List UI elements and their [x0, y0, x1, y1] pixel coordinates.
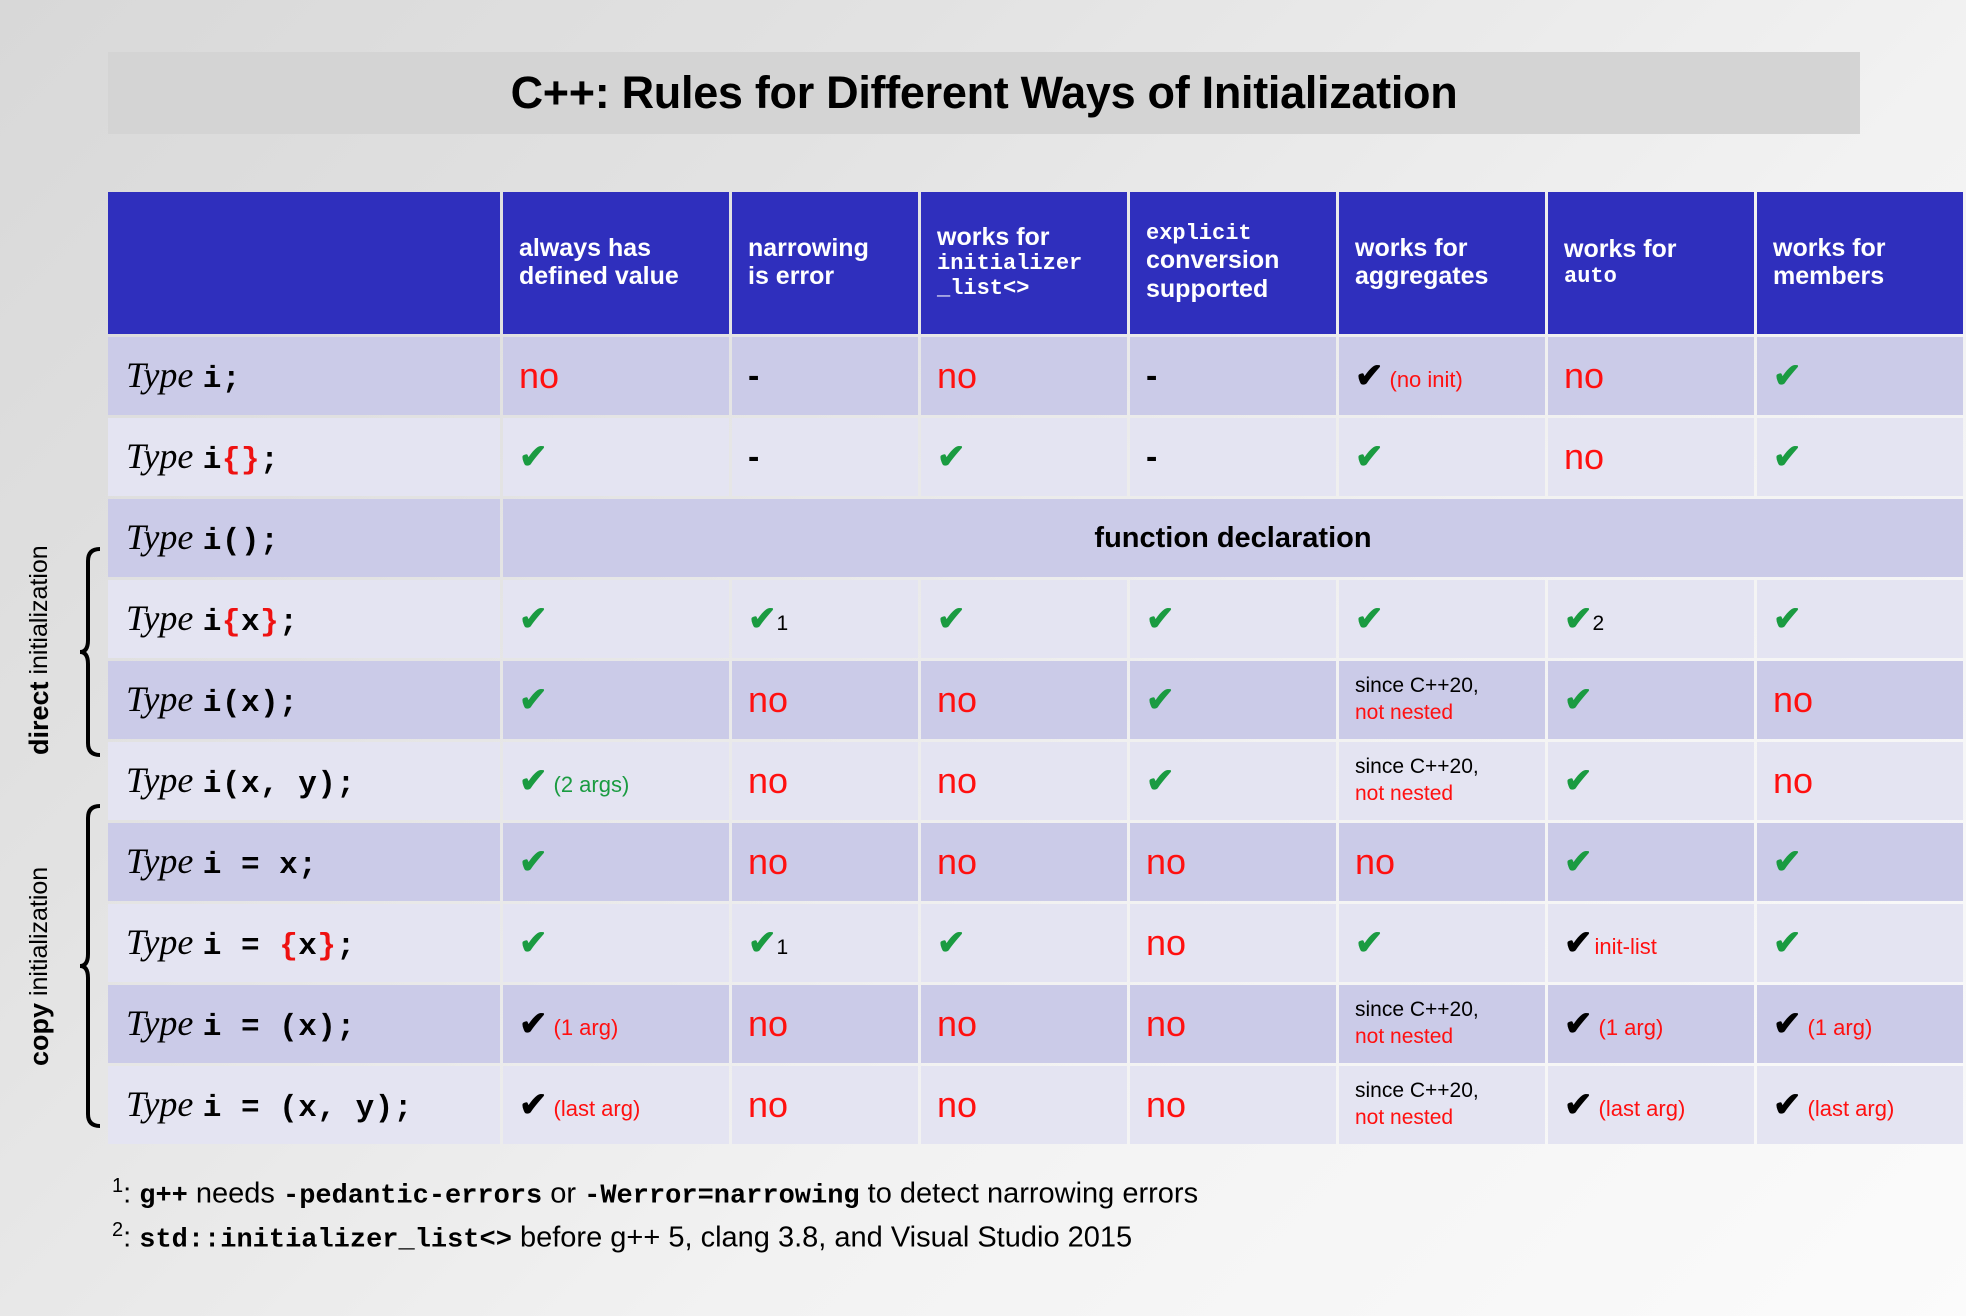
no-label: no [1773, 763, 1813, 799]
no-label: no [1146, 925, 1186, 961]
side-label-direct-rest: initialization [25, 545, 53, 681]
side-label-direct: direct initialization [24, 549, 55, 755]
value-since-cxx20: since C++20,not nested [1355, 1078, 1479, 1132]
row-label-3: Type i{x}; [108, 580, 500, 658]
table-header-row: always hasdefined valuenarrowingis error… [108, 192, 1963, 334]
sig-part: { [279, 929, 298, 964]
cell-note: init-list [1595, 936, 1657, 958]
footnote-code: -Werror=narrowing [584, 1182, 859, 1212]
column-header-line: supported [1146, 275, 1336, 304]
check-icon: ✔ [1146, 602, 1175, 636]
cell-r8-c6: ✔(1 arg) [1757, 985, 1963, 1063]
cell-note: (1 arg) [1599, 1017, 1664, 1039]
not-nested-line: not nested [1355, 781, 1479, 808]
footnote-code: g++ [139, 1182, 188, 1212]
row-label-7: Type i = {x}; [108, 904, 500, 982]
cell-r1-c2: ✔ [921, 418, 1127, 496]
title-bar: C++: Rules for Different Ways of Initial… [108, 52, 1860, 134]
value-no: no [937, 682, 977, 718]
no-label: no [748, 844, 788, 880]
check-icon: ✔ [519, 764, 548, 798]
row-label-4: Type i(x); [108, 661, 500, 739]
sig-part: i [203, 605, 222, 640]
copy-brace-icon [80, 806, 100, 1126]
sig-part: Type [126, 517, 193, 557]
cell-r4-c3: ✔ [1130, 661, 1336, 739]
column-header-line: aggregates [1355, 262, 1545, 291]
sig-part: } [317, 929, 336, 964]
value-no: no [748, 682, 788, 718]
value-since-cxx20: since C++20,not nested [1355, 754, 1479, 808]
column-header-6: works forauto [1548, 192, 1754, 334]
cell-r0-c3: - [1130, 337, 1336, 415]
cell-r8-c2: no [921, 985, 1127, 1063]
row-label-8: Type i = (x); [108, 985, 500, 1063]
cell-r5-c4: since C++20,not nested [1339, 742, 1545, 820]
table-corner-cell [108, 192, 500, 334]
value-no: no [1773, 763, 1813, 799]
check-icon: ✔ [937, 926, 966, 960]
value-check-black: ✔(1 arg) [1564, 1007, 1663, 1041]
column-header-line: conversion [1146, 246, 1336, 275]
check-icon: ✔ [1773, 926, 1802, 960]
sig-part: Type [126, 679, 193, 719]
value-check-green: ✔ [1564, 764, 1593, 798]
footnote-1: 1: g++ needs -pedantic-errors or -Werror… [112, 1172, 1872, 1216]
table-row: Type i = (x, y);✔(last arg)nononosince C… [108, 1066, 1963, 1144]
value-check-green: ✔ [937, 926, 966, 960]
cell-note: (no init) [1390, 369, 1463, 391]
footnote-code: -pedantic-errors [283, 1182, 542, 1212]
cell-r9-c4: since C++20,not nested [1339, 1066, 1545, 1144]
cell-r6-c6: ✔ [1757, 823, 1963, 901]
value-no: no [1355, 844, 1395, 880]
sig-part: x [298, 929, 317, 964]
sig-part: i(); [203, 524, 279, 559]
cell-note: (2 args) [554, 774, 630, 796]
footnote-text: needs [188, 1178, 283, 1210]
row-label-0: Type i; [108, 337, 500, 415]
check-icon: ✔ [1355, 926, 1384, 960]
no-label: no [748, 1006, 788, 1042]
check-icon: ✔ [519, 602, 548, 636]
check-icon: ✔ [1773, 1088, 1802, 1122]
cell-r7-c6: ✔ [1757, 904, 1963, 982]
value-no: no [937, 1087, 977, 1123]
sig-part: Type [126, 760, 193, 800]
value-check-green: ✔ [519, 845, 548, 879]
dash-label: - [1146, 440, 1157, 474]
since-line: since C++20, [1355, 1078, 1479, 1105]
side-label-copy-bold: copy [24, 1003, 54, 1066]
value-since-cxx20: since C++20,not nested [1355, 673, 1479, 727]
value-check-green: ✔1 [748, 602, 788, 636]
side-label-direct-bold: direct [24, 681, 54, 755]
cell-r0-c0: no [503, 337, 729, 415]
value-check-green: ✔ [1564, 845, 1593, 879]
row-signature: Type i = x; [126, 843, 317, 881]
sig-part: } [260, 605, 279, 640]
row-signature: Type i(); [126, 519, 279, 557]
value-check-green: ✔ [1564, 683, 1593, 717]
sig-part: Type [126, 841, 193, 881]
sig-part: i(x, y); [203, 767, 356, 802]
not-nested-line: not nested [1355, 1105, 1479, 1132]
check-icon: ✔ [519, 683, 548, 717]
value-no: no [1146, 1087, 1186, 1123]
check-icon: ✔ [937, 440, 966, 474]
cell-r1-c1: - [732, 418, 918, 496]
row-signature: Type i = (x, y); [126, 1086, 413, 1124]
no-label: no [1146, 1006, 1186, 1042]
column-header-line: always has [519, 234, 729, 263]
sig-part: Type [126, 1003, 193, 1043]
cell-r0-c2: no [921, 337, 1127, 415]
table-row: Type i(x, y);✔(2 args)nono✔since C++20,n… [108, 742, 1963, 820]
cell-r6-c3: no [1130, 823, 1336, 901]
column-header-2: narrowingis error [732, 192, 918, 334]
check-icon: ✔ [1564, 1088, 1593, 1122]
value-check-black: ✔(last arg) [519, 1088, 640, 1122]
check-icon: ✔ [519, 845, 548, 879]
cell-r3-c4: ✔ [1339, 580, 1545, 658]
cell-r1-c6: ✔ [1757, 418, 1963, 496]
cell-r9-c6: ✔(last arg) [1757, 1066, 1963, 1144]
check-icon: ✔ [1564, 602, 1593, 636]
row-signature: Type i = (x); [126, 1005, 356, 1043]
footnote-ref: 2 [1593, 613, 1605, 634]
no-label: no [937, 763, 977, 799]
no-label: no [1564, 439, 1604, 475]
twoline-note: since C++20,not nested [1355, 754, 1479, 808]
value-check-green: ✔ [519, 926, 548, 960]
no-label: no [519, 358, 559, 394]
side-label-copy-rest: initialization [25, 866, 53, 1002]
footnote-marker: 1 [112, 1175, 123, 1197]
check-icon: ✔ [1564, 1007, 1593, 1041]
cell-r8-c5: ✔(1 arg) [1548, 985, 1754, 1063]
cell-r9-c0: ✔(last arg) [503, 1066, 729, 1144]
column-header-line: defined value [519, 262, 729, 291]
no-label: no [1355, 844, 1395, 880]
side-annotations: direct initialization copy initializatio… [0, 0, 108, 1316]
table-row: Type i{};✔-✔-✔no✔ [108, 418, 1963, 496]
page-title: C++: Rules for Different Ways of Initial… [511, 67, 1458, 119]
row-signature: Type i(x, y); [126, 762, 356, 800]
cell-r6-c1: no [732, 823, 918, 901]
cell-r5-c1: no [732, 742, 918, 820]
row-label-6: Type i = x; [108, 823, 500, 901]
since-line: since C++20, [1355, 754, 1479, 781]
no-label: no [937, 358, 977, 394]
no-label: no [937, 682, 977, 718]
check-icon: ✔ [519, 1007, 548, 1041]
value-no: no [1564, 439, 1604, 475]
footnote-text: : [123, 1222, 139, 1254]
sig-part: i = (x, y); [203, 1091, 413, 1126]
direct-brace-icon [80, 549, 100, 755]
row-signature: Type i(x); [126, 681, 298, 719]
value-dash: - [1146, 440, 1157, 474]
check-icon: ✔ [748, 602, 777, 636]
value-no: no [937, 358, 977, 394]
value-no: no [1146, 1006, 1186, 1042]
sig-part: Type [126, 922, 193, 962]
check-icon: ✔ [748, 926, 777, 960]
row-signature: Type i; [126, 357, 241, 395]
value-no: no [748, 763, 788, 799]
cell-r6-c5: ✔ [1548, 823, 1754, 901]
value-check-green: ✔ [937, 440, 966, 474]
cell-r4-c0: ✔ [503, 661, 729, 739]
value-no: no [748, 844, 788, 880]
footnote-text: to detect narrowing errors [860, 1178, 1198, 1210]
column-header-line: members [1773, 262, 1963, 291]
value-since-cxx20: since C++20,not nested [1355, 997, 1479, 1051]
column-header-3: works forinitializer_list<> [921, 192, 1127, 334]
check-icon: ✔ [1355, 359, 1384, 393]
sig-part: i = (x); [203, 1010, 356, 1045]
sig-part: ; [260, 443, 279, 478]
value-dash: - [748, 440, 759, 474]
cell-r7-c0: ✔ [503, 904, 729, 982]
cell-r4-c5: ✔ [1548, 661, 1754, 739]
cell-r3-c1: ✔1 [732, 580, 918, 658]
value-no: no [937, 1006, 977, 1042]
value-check-green: ✔ [1146, 764, 1175, 798]
footnotes: 1: g++ needs -pedantic-errors or -Werror… [112, 1172, 1872, 1260]
column-header-line: auto [1564, 264, 1754, 289]
sig-part: ; [279, 605, 298, 640]
check-icon: ✔ [1564, 764, 1593, 798]
initialization-rules-table: always hasdefined valuenarrowingis error… [105, 189, 1966, 1147]
cell-r3-c6: ✔ [1757, 580, 1963, 658]
check-icon: ✔ [1564, 683, 1593, 717]
cell-note: (last arg) [1599, 1098, 1686, 1120]
footnote-ref: 1 [777, 937, 789, 958]
sig-part: i(x); [203, 686, 299, 721]
twoline-note: since C++20,not nested [1355, 1078, 1479, 1132]
column-header-5: works foraggregates [1339, 192, 1545, 334]
value-check-green: ✔ [1355, 926, 1384, 960]
value-check-black: ✔(1 arg) [1773, 1007, 1872, 1041]
value-dash: - [748, 359, 759, 393]
cell-r7-c5: ✔init-list [1548, 904, 1754, 982]
cell-r0-c5: no [1548, 337, 1754, 415]
column-header-1: always hasdefined value [503, 192, 729, 334]
row-label-2: Type i(); [108, 499, 500, 577]
value-check-green: ✔ [1773, 926, 1802, 960]
cell-r4-c6: no [1757, 661, 1963, 739]
row-label-5: Type i(x, y); [108, 742, 500, 820]
no-label: no [937, 844, 977, 880]
footnote-text: before g++ 5, clang 3.8, and Visual Stud… [512, 1222, 1132, 1254]
cell-r4-c4: since C++20,not nested [1339, 661, 1545, 739]
footnote-ref: 1 [777, 613, 789, 634]
cell-note: (last arg) [1808, 1098, 1895, 1120]
since-line: since C++20, [1355, 673, 1479, 700]
row-signature: Type i = {x}; [126, 924, 356, 962]
value-check-black: ✔(last arg) [1564, 1088, 1685, 1122]
cell-r9-c1: no [732, 1066, 918, 1144]
value-check-green: ✔ [1773, 602, 1802, 636]
cell-r0-c6: ✔ [1757, 337, 1963, 415]
value-dash: - [1146, 359, 1157, 393]
check-icon: ✔ [1773, 602, 1802, 636]
value-check-green: ✔ [1773, 440, 1802, 474]
dash-label: - [748, 359, 759, 393]
column-header-line: _list<> [937, 276, 1127, 301]
cell-note: (1 arg) [1808, 1017, 1873, 1039]
no-label: no [1146, 1087, 1186, 1123]
value-no: no [1146, 844, 1186, 880]
column-header-4: explicitconversionsupported [1130, 192, 1336, 334]
check-icon: ✔ [1146, 764, 1175, 798]
table-row: Type i{x};✔✔1✔✔✔✔2✔ [108, 580, 1963, 658]
table-row: Type i(x);✔nono✔since C++20,not nested✔n… [108, 661, 1963, 739]
cell-r1-c3: - [1130, 418, 1336, 496]
check-icon: ✔ [519, 1088, 548, 1122]
table-row: Type i = x;✔nononono✔✔ [108, 823, 1963, 901]
brace-group-svg [0, 0, 108, 1316]
column-header-line: works for [1564, 235, 1754, 264]
value-check-green: ✔ [519, 683, 548, 717]
sig-part: i [203, 443, 222, 478]
sig-part: i; [203, 362, 241, 397]
value-no: no [748, 1087, 788, 1123]
check-icon: ✔ [1773, 359, 1802, 393]
column-header-line: explicit [1146, 221, 1336, 246]
value-check-green: ✔(2 args) [519, 764, 629, 798]
table-body: Type i;no-no-✔(no init)no✔Type i{};✔-✔-✔… [108, 337, 1963, 1144]
value-check-green: ✔ [519, 602, 548, 636]
column-header-line: works for [937, 223, 1127, 252]
cell-r5-c6: no [1757, 742, 1963, 820]
cell-r0-c1: - [732, 337, 918, 415]
cell-r8-c1: no [732, 985, 918, 1063]
value-no: no [519, 358, 559, 394]
since-line: since C++20, [1355, 997, 1479, 1024]
value-check-green: ✔ [1773, 359, 1802, 393]
check-icon: ✔ [1146, 683, 1175, 717]
value-check-green: ✔ [1146, 683, 1175, 717]
twoline-note: since C++20,not nested [1355, 673, 1479, 727]
function-declaration-cell: function declaration [503, 499, 1963, 577]
no-label: no [1146, 844, 1186, 880]
sig-part: i = [203, 929, 279, 964]
no-label: no [748, 763, 788, 799]
sig-part: x [241, 605, 260, 640]
value-check-green: ✔ [1355, 440, 1384, 474]
column-header-line: works for [1355, 234, 1545, 263]
cell-r8-c3: no [1130, 985, 1336, 1063]
value-check-green: ✔2 [1564, 602, 1604, 636]
sig-part: Type [126, 355, 193, 395]
cell-r7-c2: ✔ [921, 904, 1127, 982]
no-label: no [748, 1087, 788, 1123]
table-row: Type i();function declaration [108, 499, 1963, 577]
check-icon: ✔ [937, 602, 966, 636]
cell-r1-c4: ✔ [1339, 418, 1545, 496]
check-icon: ✔ [1355, 440, 1384, 474]
cell-r7-c3: no [1130, 904, 1336, 982]
column-header-line: initializer [937, 251, 1127, 276]
value-no: no [1773, 682, 1813, 718]
value-no: no [1146, 925, 1186, 961]
cell-r1-c5: no [1548, 418, 1754, 496]
value-check-black: ✔(1 arg) [519, 1007, 618, 1041]
check-icon: ✔ [1564, 926, 1593, 960]
value-check-green: ✔ [1146, 602, 1175, 636]
sig-part: i = x; [203, 848, 318, 883]
cell-r3-c2: ✔ [921, 580, 1127, 658]
no-label: no [937, 1087, 977, 1123]
value-check-black: ✔(no init) [1355, 359, 1463, 393]
column-header-7: works formembers [1757, 192, 1963, 334]
cell-r8-c0: ✔(1 arg) [503, 985, 729, 1063]
dash-label: - [1146, 359, 1157, 393]
cell-r1-c0: ✔ [503, 418, 729, 496]
cell-r5-c3: ✔ [1130, 742, 1336, 820]
cell-r7-c4: ✔ [1339, 904, 1545, 982]
table-row: Type i = (x);✔(1 arg)nononosince C++20,n… [108, 985, 1963, 1063]
twoline-note: since C++20,not nested [1355, 997, 1479, 1051]
no-label: no [1564, 358, 1604, 394]
sig-part: Type [126, 598, 193, 638]
table-row: Type i;no-no-✔(no init)no✔ [108, 337, 1963, 415]
cell-r6-c2: no [921, 823, 1127, 901]
cell-note: (last arg) [554, 1098, 641, 1120]
row-signature: Type i{}; [126, 438, 279, 476]
value-no: no [937, 763, 977, 799]
column-header-line: is error [748, 262, 918, 291]
dash-label: - [748, 440, 759, 474]
column-header-line: narrowing [748, 234, 918, 263]
cell-r7-c1: ✔1 [732, 904, 918, 982]
cell-r4-c1: no [732, 661, 918, 739]
cell-r5-c0: ✔(2 args) [503, 742, 729, 820]
row-label-1: Type i{}; [108, 418, 500, 496]
check-icon: ✔ [1564, 845, 1593, 879]
check-icon: ✔ [1355, 602, 1384, 636]
check-icon: ✔ [519, 440, 548, 474]
value-check-black: ✔init-list [1564, 926, 1657, 960]
table-header: always hasdefined valuenarrowingis error… [108, 192, 1963, 334]
sig-part: Type [126, 1084, 193, 1124]
cell-r9-c2: no [921, 1066, 1127, 1144]
value-check-black: ✔(last arg) [1773, 1088, 1894, 1122]
column-header-line: works for [1773, 234, 1963, 263]
footnote-text: : [123, 1178, 139, 1210]
value-check-green: ✔1 [748, 926, 788, 960]
cell-r0-c4: ✔(no init) [1339, 337, 1545, 415]
sig-part: {} [222, 443, 260, 478]
rules-table-wrapper: always hasdefined valuenarrowingis error… [108, 192, 1918, 1144]
footnote-2: 2: std::initializer_list<> before g++ 5,… [112, 1216, 1872, 1260]
cell-r6-c4: no [1339, 823, 1545, 901]
check-icon: ✔ [1773, 845, 1802, 879]
table-row: Type i = {x};✔✔1✔no✔✔init-list✔ [108, 904, 1963, 982]
no-label: no [1773, 682, 1813, 718]
row-label-9: Type i = (x, y); [108, 1066, 500, 1144]
sig-part: Type [126, 436, 193, 476]
value-no: no [748, 1006, 788, 1042]
value-check-green: ✔ [1355, 602, 1384, 636]
row-signature: Type i{x}; [126, 600, 298, 638]
footnote-text: or [542, 1178, 584, 1210]
cell-r8-c4: since C++20,not nested [1339, 985, 1545, 1063]
footnote-code: std::initializer_list<> [139, 1226, 512, 1256]
